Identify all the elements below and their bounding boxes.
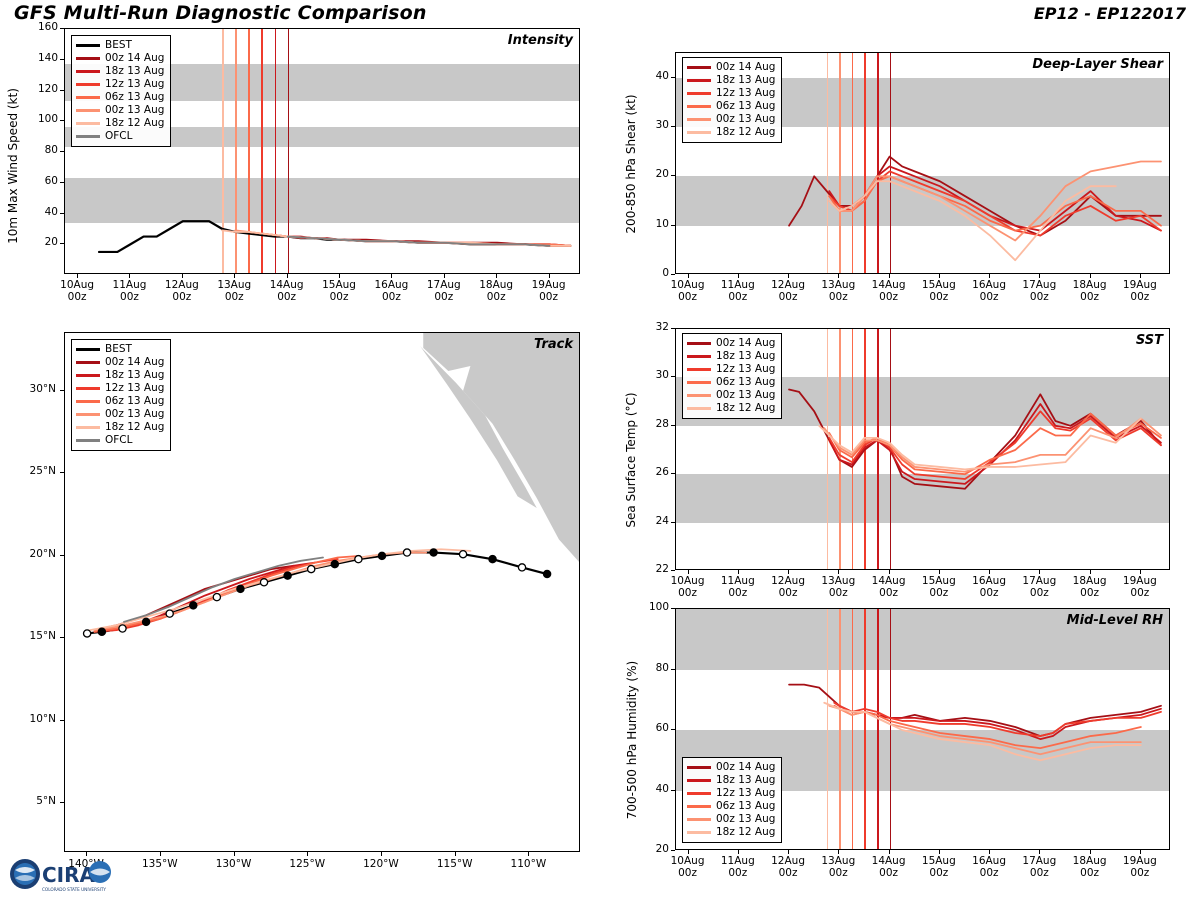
legend-item: 12z 13 Aug (687, 87, 775, 100)
legend-item: 06z 13 Aug (687, 100, 775, 113)
x-tick (889, 850, 890, 854)
x-tick (1039, 570, 1040, 574)
legend-swatch (687, 118, 711, 121)
legend-item: 06z 13 Aug (76, 91, 164, 104)
y-tick (60, 90, 64, 91)
legend-item: 06z 13 Aug (687, 376, 775, 389)
shear-plot-area: Deep-Layer Shear 00z 14 Aug18z 13 Aug12z… (675, 52, 1170, 274)
panel-shear: 200-850 hPa Shear (kt) Deep-Layer Shear … (600, 24, 1200, 314)
x-tick (391, 274, 392, 278)
legend-label: 06z 13 Aug (105, 91, 164, 104)
x-tick-label: 14Aug00z (257, 279, 317, 303)
x-tick (287, 274, 288, 278)
x-tick (1090, 850, 1091, 854)
y-tick-label: 26 (629, 466, 669, 478)
legend-label: 12z 13 Aug (105, 382, 164, 395)
legend-label: 12z 13 Aug (105, 78, 164, 91)
legend-item: 00z 13 Aug (687, 113, 775, 126)
legend-item: 18z 13 Aug (687, 350, 775, 363)
y-tick (671, 570, 675, 571)
legend-label: 18z 12 Aug (716, 826, 775, 839)
track-plot-area: Track BEST00z 14 Aug18z 13 Aug12z 13 Aug… (64, 332, 580, 852)
legend-item: 18z 13 Aug (76, 369, 164, 382)
y-tick-label: 30°N (6, 383, 56, 395)
y-tick (60, 472, 64, 473)
legend-label: 18z 12 Aug (716, 126, 775, 139)
x-tick (738, 570, 739, 574)
legend-label: 00z 14 Aug (716, 761, 775, 774)
y-tick-label: 15°N (6, 630, 56, 642)
x-tick (838, 570, 839, 574)
y-tick-label: 5°N (6, 795, 56, 807)
legend-swatch (687, 66, 711, 69)
y-tick-label: 160 (18, 21, 58, 33)
legend-swatch (76, 96, 100, 99)
legend-item: 00z 13 Aug (687, 389, 775, 402)
svg-text:CIRA: CIRA (42, 863, 96, 887)
y-tick-label: 40 (18, 206, 58, 218)
y-tick (60, 120, 64, 121)
intensity-y-axis-label: 10m Max Wind Speed (kt) (6, 81, 20, 251)
legend-label: 00z 13 Aug (105, 408, 164, 421)
y-tick-label: 100 (18, 113, 58, 125)
x-tick-label: 19Aug00z (1110, 279, 1170, 303)
y-tick (60, 182, 64, 183)
legend-label: 00z 14 Aug (716, 61, 775, 74)
y-tick-label: 10°N (6, 713, 56, 725)
x-tick (381, 852, 382, 856)
x-tick-label: 19Aug00z (1110, 855, 1170, 879)
x-tick (455, 852, 456, 856)
y-tick (60, 213, 64, 214)
x-tick (838, 274, 839, 278)
legend-item: 18z 12 Aug (687, 402, 775, 415)
cira-logo: CIRA COLORADO STATE UNIVERSITY (8, 852, 112, 896)
legend-item: 12z 13 Aug (76, 78, 164, 91)
legend-swatch (687, 407, 711, 410)
legend-item: 06z 13 Aug (687, 800, 775, 813)
legend-swatch (687, 79, 711, 82)
y-tick-label: 30 (629, 119, 669, 131)
x-tick (939, 570, 940, 574)
legend-label: 06z 13 Aug (716, 800, 775, 813)
y-tick-label: 28 (629, 418, 669, 430)
y-tick (671, 126, 675, 127)
legend-item: BEST (76, 39, 164, 52)
legend-swatch (687, 831, 711, 834)
x-tick (738, 850, 739, 854)
legend-item: 18z 12 Aug (76, 117, 164, 130)
legend-swatch (76, 348, 100, 351)
legend-label: 18z 12 Aug (105, 421, 164, 434)
y-tick-label: 10 (629, 218, 669, 230)
x-tick (307, 852, 308, 856)
rh-plot-area: Mid-Level RH 00z 14 Aug18z 13 Aug12z 13 … (675, 608, 1170, 850)
x-tick-label: 17Aug00z (414, 279, 474, 303)
legend-item: 00z 14 Aug (687, 337, 775, 350)
legend: BEST00z 14 Aug18z 13 Aug12z 13 Aug06z 13… (71, 339, 171, 451)
y-tick (671, 328, 675, 329)
x-tick-label: 15Aug00z (309, 279, 369, 303)
legend-swatch (687, 131, 711, 134)
svg-text:COLORADO STATE UNIVERSITY: COLORADO STATE UNIVERSITY (42, 887, 106, 892)
y-tick (671, 425, 675, 426)
legend-swatch (687, 805, 711, 808)
y-tick-label: 120 (18, 83, 58, 95)
legend-item: 18z 13 Aug (76, 65, 164, 78)
legend-label: 18z 13 Aug (716, 350, 775, 363)
x-tick-label: 16Aug00z (361, 279, 421, 303)
legend-item: 12z 13 Aug (76, 382, 164, 395)
legend-swatch (76, 44, 100, 47)
x-tick-label: 12Aug00z (152, 279, 212, 303)
y-tick-label: 20 (18, 236, 58, 248)
x-tick-label: 19Aug00z (1110, 575, 1170, 599)
legend-item: OFCL (76, 434, 164, 447)
x-tick (1090, 570, 1091, 574)
legend-item: 06z 13 Aug (76, 395, 164, 408)
y-tick (671, 175, 675, 176)
x-tick-label: 11Aug00z (99, 279, 159, 303)
legend-swatch (687, 792, 711, 795)
y-tick-label: 40 (629, 70, 669, 82)
legend-label: BEST (105, 39, 132, 52)
x-tick-label: 120°W (351, 858, 411, 870)
x-tick (939, 274, 940, 278)
y-tick (60, 151, 64, 152)
legend-label: 06z 13 Aug (716, 100, 775, 113)
y-tick (60, 59, 64, 60)
x-tick (549, 274, 550, 278)
shear-panel-title: Deep-Layer Shear (1032, 57, 1163, 72)
x-tick (889, 570, 890, 574)
legend-swatch (76, 109, 100, 112)
legend-label: 06z 13 Aug (105, 395, 164, 408)
legend: 00z 14 Aug18z 13 Aug12z 13 Aug06z 13 Aug… (682, 757, 782, 843)
y-tick (671, 669, 675, 670)
legend-swatch (76, 426, 100, 429)
legend-label: 06z 13 Aug (716, 376, 775, 389)
legend-swatch (76, 400, 100, 403)
legend-item: 12z 13 Aug (687, 363, 775, 376)
legend-item: 00z 14 Aug (687, 761, 775, 774)
legend-item: 18z 12 Aug (687, 126, 775, 139)
x-tick (838, 850, 839, 854)
x-tick-label: 10Aug00z (47, 279, 107, 303)
legend-item: 00z 13 Aug (76, 104, 164, 117)
x-tick (688, 274, 689, 278)
y-tick (60, 637, 64, 638)
legend-swatch (687, 381, 711, 384)
intensity-plot-area: Intensity BEST00z 14 Aug18z 13 Aug12z 13… (64, 28, 580, 274)
y-tick (671, 376, 675, 377)
legend-item: OFCL (76, 130, 164, 143)
figure-root: GFS Multi-Run Diagnostic Comparison EP12… (0, 0, 1200, 900)
legend-item: 18z 13 Aug (687, 74, 775, 87)
legend-swatch (76, 361, 100, 364)
intensity-panel-title: Intensity (508, 33, 573, 48)
y-tick (60, 555, 64, 556)
y-tick-label: 30 (629, 369, 669, 381)
legend-label: 00z 14 Aug (105, 356, 164, 369)
rh-panel-title: Mid-Level RH (1067, 613, 1163, 628)
panel-track: Track BEST00z 14 Aug18z 13 Aug12z 13 Aug… (0, 330, 590, 870)
track-panel-title: Track (534, 337, 573, 352)
x-tick (788, 850, 789, 854)
x-tick-label: 13Aug00z (204, 279, 264, 303)
legend-item: 00z 14 Aug (76, 52, 164, 65)
legend-label: 12z 13 Aug (716, 787, 775, 800)
x-tick (1090, 274, 1091, 278)
y-tick (671, 473, 675, 474)
legend-label: 12z 13 Aug (716, 87, 775, 100)
x-tick (688, 570, 689, 574)
x-tick (889, 274, 890, 278)
y-tick-label: 100 (629, 601, 669, 613)
y-tick (671, 729, 675, 730)
y-tick (671, 790, 675, 791)
x-tick (234, 852, 235, 856)
y-tick (671, 608, 675, 609)
y-tick (60, 802, 64, 803)
legend: 00z 14 Aug18z 13 Aug12z 13 Aug06z 13 Aug… (682, 57, 782, 143)
figure-title-right: EP12 - EP122017 (1034, 4, 1186, 23)
legend-label: 18z 13 Aug (105, 65, 164, 78)
x-tick (496, 274, 497, 278)
x-tick-label: 115°W (425, 858, 485, 870)
x-tick (129, 274, 130, 278)
y-tick (671, 77, 675, 78)
legend-swatch (76, 387, 100, 390)
x-tick (788, 570, 789, 574)
legend-label: 00z 13 Aug (716, 389, 775, 402)
y-tick (60, 243, 64, 244)
x-tick (1140, 274, 1141, 278)
y-tick (671, 522, 675, 523)
figure-title-left: GFS Multi-Run Diagnostic Comparison (14, 2, 427, 24)
legend-swatch (76, 70, 100, 73)
legend-item: BEST (76, 343, 164, 356)
legend-item: 00z 13 Aug (687, 813, 775, 826)
panel-rh: 700-500 hPa Humidity (%) Mid-Level RH 00… (600, 600, 1200, 890)
x-tick (339, 274, 340, 278)
legend-swatch (76, 135, 100, 138)
legend-swatch (76, 439, 100, 442)
legend-swatch (76, 83, 100, 86)
legend-swatch (687, 779, 711, 782)
y-tick-label: 25°N (6, 465, 56, 477)
panel-sst: Sea Surface Temp (°C) SST 00z 14 Aug18z … (600, 320, 1200, 610)
legend-item: 18z 12 Aug (687, 826, 775, 839)
y-tick-label: 32 (629, 321, 669, 333)
x-tick (182, 274, 183, 278)
x-tick (1039, 850, 1040, 854)
x-tick (989, 850, 990, 854)
legend-label: OFCL (105, 130, 133, 143)
y-tick (671, 274, 675, 275)
sst-panel-title: SST (1136, 333, 1163, 348)
y-tick-label: 60 (18, 175, 58, 187)
x-tick (444, 274, 445, 278)
legend-label: 12z 13 Aug (716, 363, 775, 376)
y-tick-label: 20 (629, 843, 669, 855)
legend-label: 00z 13 Aug (105, 104, 164, 117)
legend-swatch (76, 413, 100, 416)
legend-label: 18z 12 Aug (716, 402, 775, 415)
x-tick-label: 125°W (277, 858, 337, 870)
legend-swatch (687, 818, 711, 821)
legend: 00z 14 Aug18z 13 Aug12z 13 Aug06z 13 Aug… (682, 333, 782, 419)
x-tick (989, 570, 990, 574)
y-tick (671, 850, 675, 851)
y-tick-label: 20 (629, 168, 669, 180)
y-tick-label: 0 (629, 267, 669, 279)
legend-item: 00z 14 Aug (76, 356, 164, 369)
x-tick-label: 18Aug00z (466, 279, 526, 303)
legend-item: 18z 13 Aug (687, 774, 775, 787)
y-tick (60, 390, 64, 391)
panel-intensity: 10m Max Wind Speed (kt) Intensity BEST00… (0, 24, 590, 314)
legend-label: 18z 12 Aug (105, 117, 164, 130)
legend-item: 00z 13 Aug (76, 408, 164, 421)
y-tick-label: 20°N (6, 548, 56, 560)
x-tick (1140, 570, 1141, 574)
legend-swatch (687, 105, 711, 108)
x-tick-label: 110°W (498, 858, 558, 870)
y-tick-label: 80 (18, 144, 58, 156)
legend-swatch (687, 342, 711, 345)
y-tick-label: 60 (629, 722, 669, 734)
legend-swatch (687, 368, 711, 371)
legend-swatch (687, 92, 711, 95)
y-tick-label: 24 (629, 515, 669, 527)
x-tick (77, 274, 78, 278)
legend-swatch (76, 122, 100, 125)
legend-label: OFCL (105, 434, 133, 447)
y-tick-label: 140 (18, 52, 58, 64)
x-tick-label: 130°W (204, 858, 264, 870)
y-tick-label: 80 (629, 662, 669, 674)
x-tick (989, 274, 990, 278)
legend: BEST00z 14 Aug18z 13 Aug12z 13 Aug06z 13… (71, 35, 171, 147)
legend-label: 18z 13 Aug (105, 369, 164, 382)
y-tick (60, 720, 64, 721)
x-tick (1140, 850, 1141, 854)
legend-item: 12z 13 Aug (687, 787, 775, 800)
legend-item: 00z 14 Aug (687, 61, 775, 74)
legend-label: 00z 13 Aug (716, 113, 775, 126)
legend-swatch (687, 766, 711, 769)
legend-label: 00z 14 Aug (105, 52, 164, 65)
x-tick (160, 852, 161, 856)
legend-swatch (687, 394, 711, 397)
x-tick (528, 852, 529, 856)
legend-label: 18z 13 Aug (716, 774, 775, 787)
x-tick (939, 850, 940, 854)
x-tick (738, 274, 739, 278)
legend-swatch (687, 355, 711, 358)
x-tick (1039, 274, 1040, 278)
y-tick (671, 225, 675, 226)
legend-label: 18z 13 Aug (716, 74, 775, 87)
x-tick-label: 135°W (130, 858, 190, 870)
legend-label: 00z 13 Aug (716, 813, 775, 826)
y-tick-label: 22 (629, 563, 669, 575)
legend-swatch (76, 57, 100, 60)
legend-swatch (76, 374, 100, 377)
x-tick (234, 274, 235, 278)
rh-y-axis-label: 700-500 hPa Humidity (%) (625, 650, 639, 830)
x-tick-label: 19Aug00z (519, 279, 579, 303)
x-tick (788, 274, 789, 278)
sst-plot-area: SST 00z 14 Aug18z 13 Aug12z 13 Aug06z 13… (675, 328, 1170, 570)
legend-item: 18z 12 Aug (76, 421, 164, 434)
y-tick-label: 40 (629, 783, 669, 795)
legend-label: BEST (105, 343, 132, 356)
legend-label: 00z 14 Aug (716, 337, 775, 350)
x-tick (688, 850, 689, 854)
y-tick (60, 28, 64, 29)
